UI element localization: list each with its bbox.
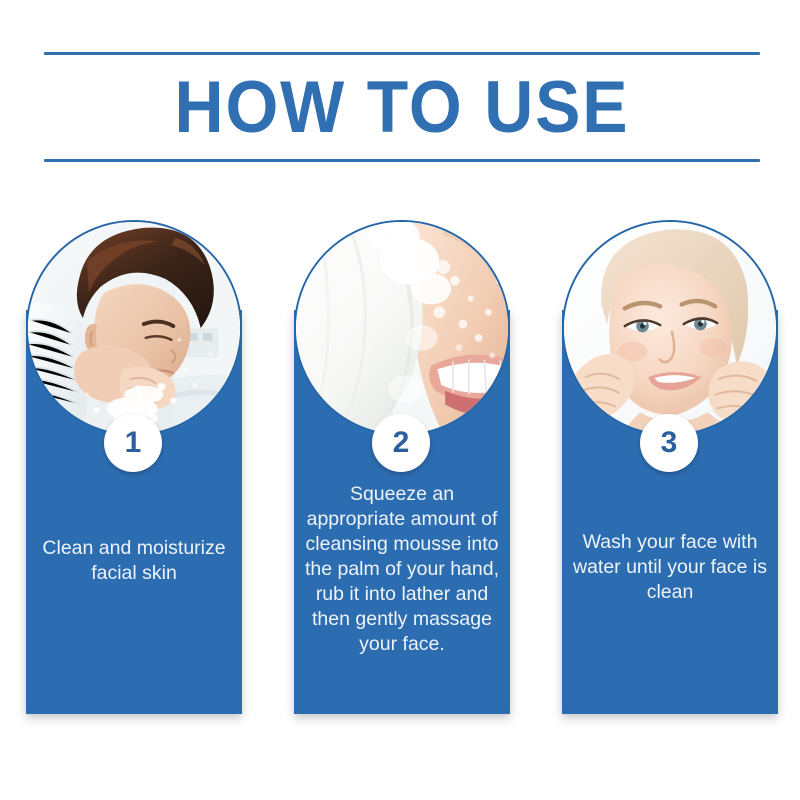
step-card-1: 1 Clean and moisturize facial skin (26, 220, 242, 714)
step-card-3: 3 Wash your face with water until your f… (562, 220, 778, 714)
step-photo-1 (26, 220, 242, 436)
page-title: HOW TO USE (69, 52, 735, 162)
infographic-page: HOW TO USE (0, 0, 800, 800)
step-photo-2 (294, 220, 510, 436)
title-rule-bottom (44, 159, 760, 162)
step-number-badge-1: 1 (104, 414, 162, 472)
step-caption-2: Squeeze an appropriate amount of cleansi… (302, 482, 502, 657)
step-photo-3 (562, 220, 778, 436)
step-number-badge-2: 2 (372, 414, 430, 472)
step-caption-3: Wash your face with water until your fac… (570, 530, 770, 605)
step-card-2: 2 Squeeze an appropriate amount of clean… (294, 220, 510, 714)
step-caption-1: Clean and moisturize facial skin (34, 536, 234, 586)
step-number-badge-3: 3 (640, 414, 698, 472)
header: HOW TO USE (44, 52, 760, 162)
